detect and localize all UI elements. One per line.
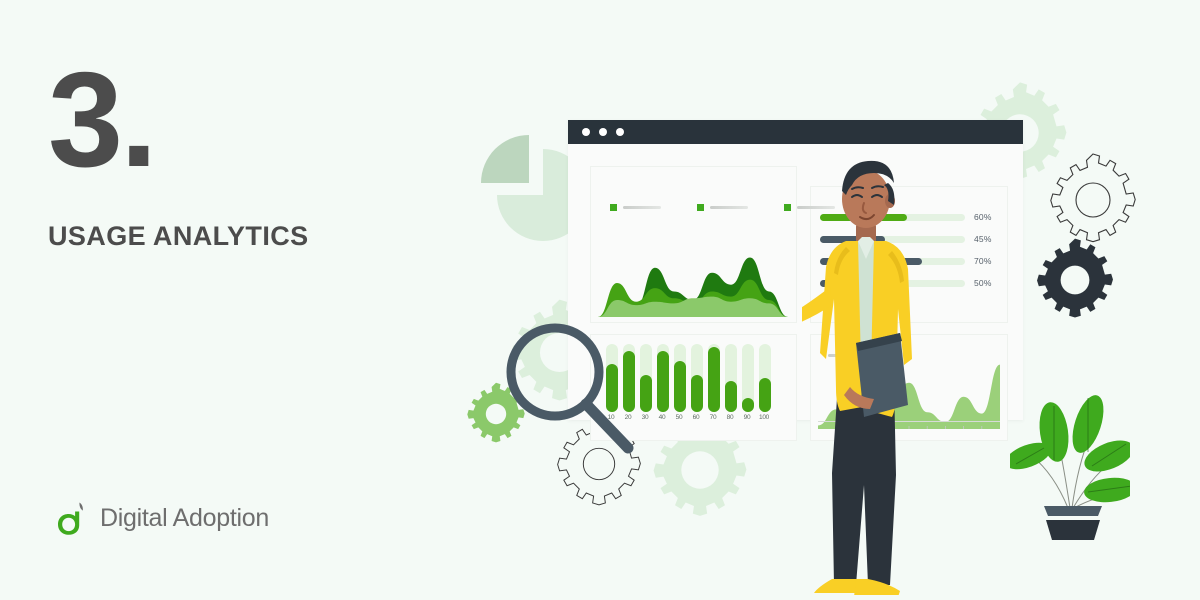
- bar-axis-label: 30: [638, 414, 652, 421]
- gear-dark-right: [1030, 235, 1120, 330]
- progress-value-label: 50%: [974, 278, 992, 288]
- bar-axis-label: 50: [672, 414, 686, 421]
- progress-value-label: 70%: [974, 256, 992, 266]
- bar-axis-label: 40: [655, 414, 669, 421]
- headline-block: 3. USAGE ANALYTICS: [48, 56, 468, 184]
- illustration: 102030405060708090100 60%45%70%50%: [440, 60, 1160, 560]
- window-titlebar: [568, 120, 1023, 144]
- legend-swatch-icon: [610, 204, 617, 211]
- legend-label-placeholder: [623, 206, 661, 209]
- bar-axis-label: 70: [706, 414, 720, 421]
- step-number-dot: .: [120, 44, 158, 195]
- bar-axis-label: 80: [723, 414, 737, 421]
- poster-canvas: 3. USAGE ANALYTICS Digital Adoption: [0, 0, 1200, 583]
- bar-slot[interactable]: [674, 344, 686, 412]
- bar-slot[interactable]: [657, 344, 669, 412]
- bar-slot[interactable]: [725, 344, 737, 412]
- bar-fill: [759, 378, 771, 412]
- presenter-figure: [802, 155, 932, 595]
- logo-mark-icon: [55, 500, 91, 536]
- brand-logo[interactable]: Digital Adoption: [55, 500, 269, 536]
- bar-slot[interactable]: [742, 344, 754, 412]
- window-close-dot-icon[interactable]: [582, 128, 590, 136]
- potted-plant: [1010, 380, 1130, 540]
- window-minimize-dot-icon[interactable]: [599, 128, 607, 136]
- legend-swatch-icon: [784, 204, 791, 211]
- legend-swatch-icon: [697, 204, 704, 211]
- page-title: USAGE ANALYTICS: [48, 221, 309, 252]
- progress-value-label: 60%: [974, 212, 992, 222]
- magnifying-glass-icon: [500, 320, 640, 460]
- bar-fill: [708, 347, 720, 412]
- bar-slot[interactable]: [759, 344, 771, 412]
- legend-item[interactable]: [697, 204, 748, 211]
- bar-axis-label: 100: [757, 414, 771, 421]
- bar-slot[interactable]: [708, 344, 720, 412]
- bar-fill: [640, 375, 652, 412]
- window-maximize-dot-icon[interactable]: [616, 128, 624, 136]
- bar-fill: [742, 398, 754, 412]
- bar-slot[interactable]: [640, 344, 652, 412]
- step-number: 3.: [48, 56, 468, 184]
- legend-label-placeholder: [710, 206, 748, 209]
- bar-slot[interactable]: [691, 344, 703, 412]
- bar-fill: [691, 375, 703, 412]
- bar-fill: [725, 381, 737, 412]
- bar-axis-label: 60: [689, 414, 703, 421]
- logo-text: Digital Adoption: [100, 504, 269, 533]
- step-number-value: 3: [48, 44, 120, 195]
- bar-fill: [674, 361, 686, 412]
- bar-axis-label: 90: [740, 414, 754, 421]
- legend-item[interactable]: [610, 204, 661, 211]
- bar-fill: [657, 351, 669, 412]
- main-area-chart: [598, 232, 788, 317]
- progress-value-label: 45%: [974, 234, 992, 244]
